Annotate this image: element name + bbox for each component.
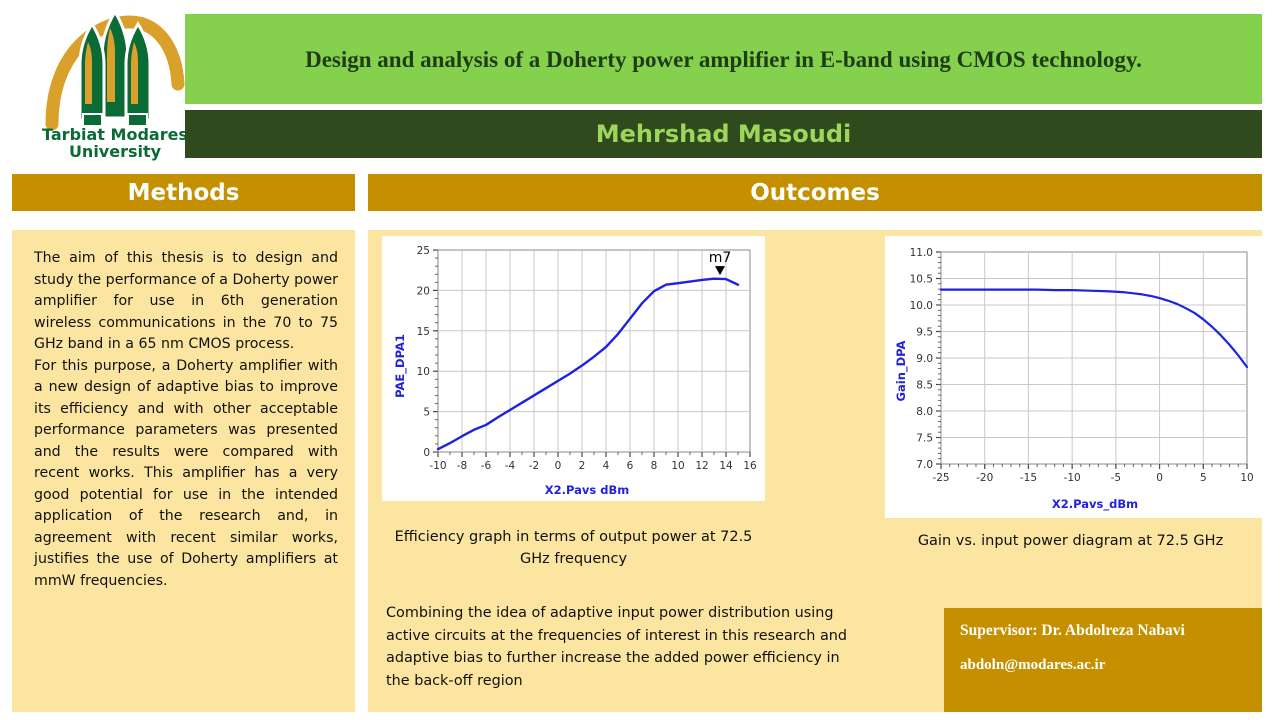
svg-text:-10: -10 — [1064, 472, 1081, 484]
svg-text:-6: -6 — [481, 460, 492, 472]
svg-text:m7: m7 — [709, 250, 732, 266]
svg-text:14: 14 — [719, 460, 733, 472]
svg-text:8.5: 8.5 — [916, 380, 933, 392]
svg-text:9.5: 9.5 — [916, 327, 933, 339]
methods-paragraph-2: For this purpose, a Doherty amplifier wi… — [34, 356, 338, 593]
university-logo: Tarbiat Modares University — [40, 6, 190, 166]
gain-chart-caption: Gain vs. input power diagram at 72.5 GHz — [878, 530, 1263, 552]
gain-chart-grid — [941, 252, 1247, 464]
supervisor-email[interactable]: abdoln@modares.ac.ir — [960, 657, 1246, 674]
methods-panel: The aim of this thesis is to design and … — [12, 230, 355, 712]
svg-text:8: 8 — [651, 460, 658, 472]
svg-text:6: 6 — [627, 460, 634, 472]
efficiency-chart-ylabel: PAE_DPA1 — [393, 334, 408, 398]
conclusion-text: Combining the idea of adaptive input pow… — [386, 602, 854, 692]
svg-text:0: 0 — [1156, 472, 1163, 484]
svg-text:10: 10 — [417, 366, 430, 378]
logo-wordmark-line1: Tarbiat Modares — [40, 126, 190, 143]
efficiency-chart-caption: Efficiency graph in terms of output powe… — [382, 526, 765, 570]
svg-text:10: 10 — [671, 460, 684, 472]
svg-text:12: 12 — [695, 460, 708, 472]
section-header-outcomes-label: Outcomes — [750, 180, 880, 206]
section-header-outcomes: Outcomes — [368, 174, 1262, 211]
svg-text:11.0: 11.0 — [910, 247, 933, 259]
svg-text:0: 0 — [555, 460, 562, 472]
svg-text:-8: -8 — [457, 460, 467, 472]
gain-chart-ylabel: Gain_DPA — [894, 340, 909, 401]
svg-text:7.0: 7.0 — [916, 459, 933, 471]
gain-chart-xlabel: X2.Pavs_dBm — [1052, 497, 1138, 512]
author-banner: Mehrshad Masoudi — [185, 110, 1262, 158]
svg-text:9.0: 9.0 — [916, 353, 933, 365]
section-header-methods: Methods — [12, 174, 355, 211]
svg-text:10.5: 10.5 — [910, 274, 933, 286]
methods-body: The aim of this thesis is to design and … — [34, 248, 338, 592]
svg-text:-5: -5 — [1111, 472, 1121, 484]
svg-text:-10: -10 — [429, 460, 446, 472]
gain-chart-card: -25-20-15-10-505107.07.58.08.59.09.510.0… — [885, 236, 1263, 518]
svg-text:10.0: 10.0 — [910, 300, 933, 312]
logo-wordmark: Tarbiat Modares University — [40, 126, 190, 160]
poster-title-banner: Design and analysis of a Doherty power a… — [185, 14, 1262, 104]
svg-text:5: 5 — [423, 407, 430, 419]
svg-text:16: 16 — [743, 460, 757, 472]
supervisor-name: Supervisor: Dr. Abdolreza Nabavi — [960, 622, 1246, 640]
logo-plants — [80, 12, 150, 126]
svg-text:15: 15 — [417, 326, 430, 338]
svg-text:-25: -25 — [932, 472, 949, 484]
section-header-methods-label: Methods — [128, 180, 240, 206]
gain-chart: -25-20-15-10-505107.07.58.08.59.09.510.0… — [885, 236, 1263, 518]
logo-wordmark-line2: University — [40, 143, 190, 160]
svg-text:25: 25 — [417, 245, 430, 257]
efficiency-chart: -10-8-6-4-202468101214160510152025 m7 X2… — [382, 236, 765, 501]
svg-text:-15: -15 — [1020, 472, 1037, 484]
svg-text:8.0: 8.0 — [916, 406, 933, 418]
page-title: Design and analysis of a Doherty power a… — [305, 44, 1142, 75]
svg-text:7.5: 7.5 — [916, 433, 933, 445]
svg-text:-4: -4 — [505, 460, 516, 472]
outcomes-panel: -10-8-6-4-202468101214160510152025 m7 X2… — [368, 230, 1262, 712]
svg-text:10: 10 — [1240, 472, 1253, 484]
methods-paragraph-1: The aim of this thesis is to design and … — [34, 248, 338, 356]
author-name: Mehrshad Masoudi — [596, 120, 852, 148]
svg-text:20: 20 — [417, 285, 430, 297]
svg-text:0: 0 — [423, 447, 430, 459]
logo-graphic — [40, 6, 190, 131]
efficiency-chart-xlabel: X2.Pavs dBm — [545, 483, 629, 497]
svg-text:5: 5 — [1200, 472, 1207, 484]
svg-text:4: 4 — [603, 460, 610, 472]
efficiency-chart-card: -10-8-6-4-202468101214160510152025 m7 X2… — [382, 236, 765, 501]
svg-text:-20: -20 — [976, 472, 993, 484]
svg-text:2: 2 — [579, 460, 586, 472]
svg-text:-2: -2 — [529, 460, 539, 472]
supervisor-box: Supervisor: Dr. Abdolreza Nabavi abdoln@… — [944, 608, 1262, 712]
